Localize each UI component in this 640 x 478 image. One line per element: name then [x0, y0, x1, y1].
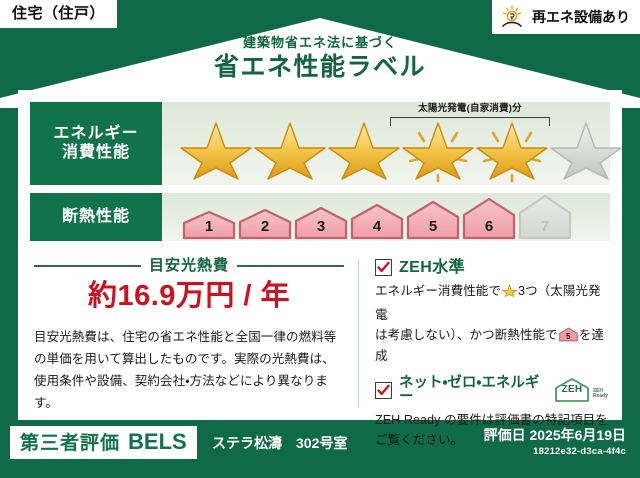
insulation-level-scale: 1 2 3: [182, 194, 572, 240]
zeh-standard-head: ZEH水準: [375, 259, 608, 276]
certification-column: ZEH水準 エネルギー消費性能で3つ（太陽光発電は考慮しない）、かつ断熱性能で5…: [359, 250, 622, 418]
star-empty-6: [550, 115, 622, 183]
insulation-level-number: 7: [518, 219, 572, 234]
label-title-block: 建築物省エネ法に基づく 省エネ性能ラベル: [0, 36, 640, 80]
zeh-standard-desc: エネルギー消費性能で3つ（太陽光発電は考慮しない）、かつ断熱性能で5を達成: [375, 281, 608, 367]
evaluation-date: 評価日 2025年6月19日: [484, 428, 626, 442]
zeh-house-logo-icon: ZEH: [553, 377, 591, 403]
evaluation-info: 評価日 2025年6月19日 18212e32-d3ca-4f4c: [484, 428, 626, 457]
insulation-level-number: 5: [406, 219, 460, 234]
energy-rating-panel: 太陽光発電(自家消費)分: [162, 102, 610, 185]
bels-en-label: BELS: [128, 431, 187, 453]
house-badge-inline: 5: [559, 327, 578, 342]
energy-label-line2: 消費性能: [62, 144, 130, 163]
star-filled-2: [254, 115, 326, 183]
net-zero-energy-checkbox[interactable]: [375, 382, 392, 399]
zeh-ready-sub-line2: Ready: [593, 393, 608, 399]
zeh-ready-logo: ZEH ZEH Ready: [553, 377, 608, 403]
zeh-logo-text: ZEH: [553, 385, 591, 395]
solar-annotation-label: 太陽光発電(自家消費)分: [390, 104, 550, 114]
zeh-standard-item: ZEH水準 エネルギー消費性能で3つ（太陽光発電は考慮しない）、かつ断熱性能で5…: [375, 259, 608, 367]
zeh-desc-part2: は考慮しない）、かつ断熱性能で: [375, 328, 558, 342]
energy-performance-label: 住宅（住戸） 再エネ設備あり 建築物省エネ法に基づく 省エネ性能ラベル: [0, 0, 640, 478]
zeh-standard-title: ZEH水準: [399, 260, 465, 276]
insulation-label: 断熱性能: [62, 208, 130, 227]
solar-annotation: 太陽光発電(自家消費)分: [390, 104, 550, 126]
building-name: ステラ松濤 302号室: [212, 436, 347, 450]
insulation-level-number: 2: [238, 219, 292, 234]
label-subtitle: 建築物省エネ法に基づく: [0, 36, 640, 49]
house-badge-inline-number: 5: [559, 333, 578, 341]
insulation-performance-label-box: 断熱性能: [30, 193, 162, 241]
utility-cost-heading-label: 目安光熱費: [149, 258, 229, 273]
label-title: 省エネ性能ラベル: [0, 55, 640, 80]
net-zero-energy-head: ネット・ゼロ・エネルギー ZEH ZEH Ready: [375, 376, 608, 405]
insulation-level-number: 1: [182, 219, 236, 234]
heading-rule-right: [237, 265, 344, 267]
zeh-desc-part1: エネルギー消費性能で: [375, 284, 501, 298]
insulation-house-5: 5: [406, 200, 460, 240]
sun-icon: [500, 5, 526, 29]
label-footer: 第三者評価 BELS ステラ松濤 302号室 評価日 2025年6月19日 18…: [0, 420, 640, 478]
net-zero-energy-title: ネット・ゼロ・エネルギー: [399, 376, 542, 405]
label-lower-section: 目安光熱費 約16.9万円 / 年 目安光熱費は、住宅の省エネ性能と全国一律の燃…: [18, 250, 622, 418]
zeh-ready-sublabel: ZEH Ready: [593, 389, 608, 404]
insulation-house-4: 4: [350, 203, 404, 240]
energy-label-line1: エネルギー: [53, 125, 138, 144]
insulation-rating-panel: 1 2 3: [162, 193, 610, 241]
utility-cost-note: 目安光熱費は、住宅の省エネ性能と全国一律の燃料等の単価を用いて算出したものです。…: [34, 327, 344, 415]
heading-rule-left: [34, 265, 141, 267]
utility-cost-value: 約16.9万円 / 年: [34, 282, 344, 311]
insulation-house-6: 6: [462, 197, 516, 240]
insulation-level-number: 6: [462, 219, 516, 234]
energy-performance-row: エネルギー 消費性能 太陽光発電(自家消費)分: [30, 102, 610, 185]
insulation-house-1: 1: [182, 210, 236, 240]
bels-badge: 第三者評価 BELS: [10, 426, 197, 459]
zeh-standard-checkbox[interactable]: [375, 259, 392, 276]
solar-annotation-bracket: [390, 117, 550, 126]
renewable-equipment-badge: 再エネ設備あり: [492, 0, 640, 34]
bels-jp-label: 第三者評価: [20, 434, 120, 453]
insulation-house-7: 7: [518, 194, 572, 240]
star-filled-1: [180, 115, 252, 183]
energy-performance-label-box: エネルギー 消費性能: [30, 102, 162, 185]
utility-cost-column: 目安光熱費 約16.9万円 / 年 目安光熱費は、住宅の省エネ性能と全国一律の燃…: [18, 250, 358, 418]
utility-cost-heading: 目安光熱費: [34, 258, 344, 273]
type-badge: 住宅（住戸）: [0, 0, 117, 28]
insulation-level-number: 4: [350, 219, 404, 234]
star-icon-inline: [502, 283, 517, 305]
insulation-performance-row: 断熱性能: [30, 193, 610, 241]
insulation-house-3: 3: [294, 206, 348, 240]
renewable-badge-label: 再エネ設備あり: [532, 10, 630, 24]
insulation-house-2: 2: [238, 208, 292, 240]
label-card: エネルギー 消費性能 太陽光発電(自家消費)分: [18, 90, 622, 420]
evaluation-id: 18212e32-d3ca-4f4c: [484, 447, 626, 457]
insulation-level-number: 3: [294, 219, 348, 234]
